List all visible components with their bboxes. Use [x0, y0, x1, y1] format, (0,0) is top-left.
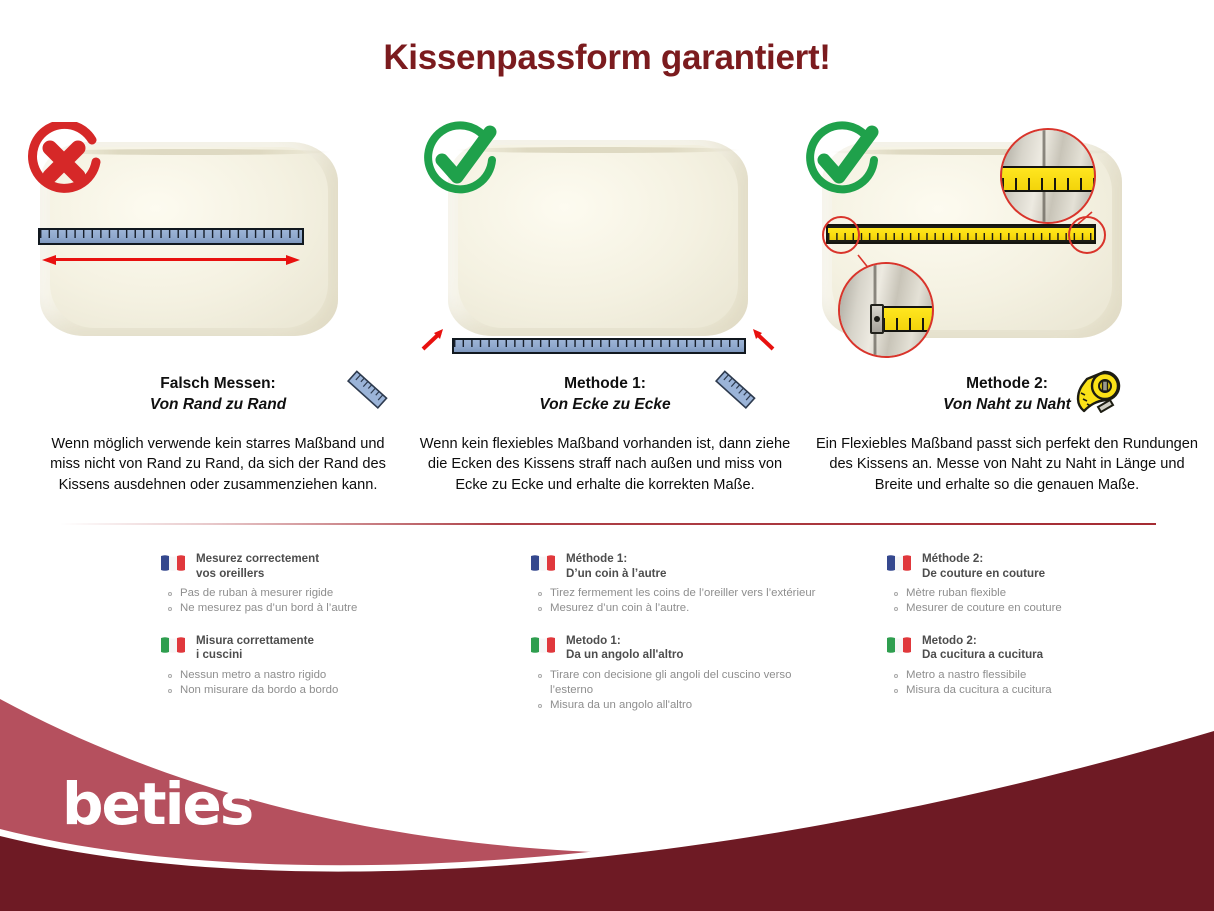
lang-group-fr: Méthode 2: De couture en couture Mètre r…: [886, 552, 1196, 617]
illustration-methode-1: [400, 120, 810, 365]
lang-title-1: Metodo 1:: [566, 634, 683, 649]
lang-title-1: Mesurez correctement: [196, 552, 319, 567]
list-item: Ne mesurez pas d’un bord à l’autre: [168, 601, 460, 616]
bullet-icon: [168, 592, 172, 596]
flag-italy-icon: [530, 636, 556, 655]
lang-title-1: Méthode 2:: [922, 552, 1045, 567]
heading-falsch-messen: Falsch Messen: Von Rand zu Rand: [18, 373, 418, 415]
heading-line-2: Von Naht zu Naht: [800, 394, 1214, 415]
column-methode-1: Methode 1: Von Ecke zu Ecke Wenn kein fl…: [400, 120, 810, 495]
tape-measure-icon: [1074, 369, 1126, 413]
paragraph-methode-2: Ein Flexiebles Maßband passt sich perfek…: [800, 434, 1214, 495]
lang-title-1: Metodo 2:: [922, 634, 1043, 649]
lang-title-1: Misura correttamente: [196, 634, 314, 649]
rigid-ruler-icon: [38, 228, 304, 245]
bullet-icon: [538, 607, 542, 611]
heading-line-1: Methode 2:: [800, 373, 1214, 394]
bullet-icon: [538, 674, 542, 678]
bullet-icon: [894, 607, 898, 611]
red-cross-circle-icon: [22, 122, 106, 206]
corner-arrow-right-icon: [750, 326, 776, 352]
list-item: Tirez fermement les coins de l’oreiller …: [538, 586, 830, 601]
lang-title-2: Da cucitura a cucitura: [922, 648, 1043, 663]
illustration-methode-2: [800, 120, 1214, 365]
flag-france-icon: [530, 554, 556, 573]
illustration-falsch-messen: [18, 120, 418, 365]
flag-italy-icon: [160, 636, 186, 655]
magnifier-seam-detail: [1000, 128, 1096, 224]
magnifier-tape-end-detail: [838, 262, 934, 358]
flag-italy-icon: [886, 636, 912, 655]
bullet-icon: [894, 592, 898, 596]
column-falsch-messen: Falsch Messen: Von Rand zu Rand Wenn mög…: [18, 120, 418, 495]
lang-group-fr: Mesurez correctement vos oreillers Pas d…: [160, 552, 460, 617]
page-title: Kissenpassform garantiert!: [0, 38, 1214, 78]
ruler-icon: [712, 367, 758, 413]
section-divider: [60, 523, 1156, 525]
bullet-icon: [168, 607, 172, 611]
paragraph-falsch-messen: Wenn möglich verwende kein starres Maßba…: [18, 434, 418, 495]
flag-france-icon: [886, 554, 912, 573]
bullet-icon: [168, 674, 172, 678]
ruler-icon: [344, 367, 390, 413]
brand-logo: beties: [62, 770, 252, 838]
corner-arrow-left-icon: [420, 326, 446, 352]
list-item: Pas de ruban à mesurer rigide: [168, 586, 460, 601]
measure-arrow-icon: [42, 255, 300, 263]
heading-methode-2: Methode 2: Von Naht zu Naht: [800, 373, 1214, 415]
column-methode-2: Methode 2: Von Naht zu Naht Ein Flexiebl…: [800, 120, 1214, 495]
infographic-page: Kissenpassform garantiert! Falsch Messen…: [0, 0, 1214, 911]
heading-methode-1: Methode 1: Von Ecke zu Ecke: [400, 373, 810, 415]
lang-title-2: D’un coin à l’autre: [566, 567, 667, 582]
callout-ring-left: [822, 216, 860, 254]
lang-title-2: vos oreillers: [196, 567, 319, 582]
lang-title-1: Méthode 1:: [566, 552, 667, 567]
bullet-icon: [894, 674, 898, 678]
bullet-icon: [538, 592, 542, 596]
paragraph-methode-1: Wenn kein flexiebles Maßband vorhanden i…: [400, 434, 810, 495]
flag-france-icon: [160, 554, 186, 573]
lang-title-2: i cuscini: [196, 648, 314, 663]
green-check-circle-icon: [418, 120, 502, 204]
list-item: Mètre ruban flexible: [894, 586, 1196, 601]
list-item: Mesurer de couture en couture: [894, 601, 1196, 616]
lang-title-2: De couture en couture: [922, 567, 1045, 582]
rigid-ruler-icon: [452, 338, 746, 354]
lang-title-2: Da un angolo all'altro: [566, 648, 683, 663]
list-item: Mesurez d’un coin à l’autre.: [538, 601, 830, 616]
lang-group-fr: Méthode 1: D’un coin à l’autre Tirez fer…: [530, 552, 830, 617]
